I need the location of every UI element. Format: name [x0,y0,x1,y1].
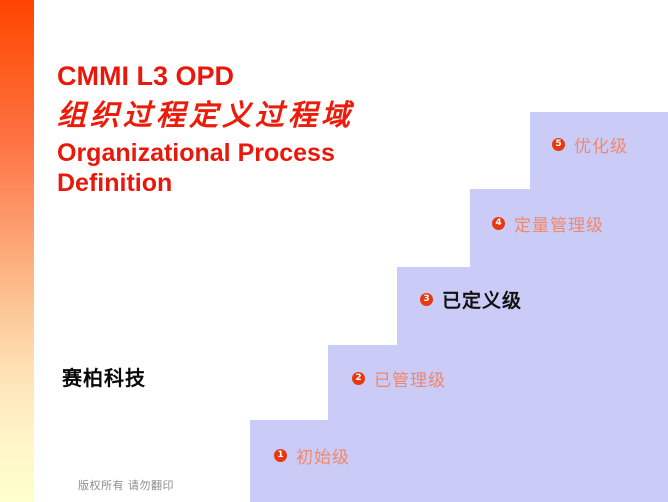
presentation-slide: 5 优化级 4 定量管理级 3 已定义级 2 已管理级 1 初始级 CMMI L… [0,0,668,502]
company-name: 赛柏科技 [62,362,146,391]
maturity-level-5-label: 5 优化级 [552,132,628,157]
level-1-number-badge: 1 [274,449,287,462]
copyright-note: 版权所有 请勿翻印 [78,477,174,493]
level-1-text: 初始级 [296,443,350,468]
level-4-text: 定量管理级 [514,211,604,236]
title-line-english-top: CMMI L3 OPD [57,62,457,92]
staircase-step-5 [530,112,668,502]
level-3-number-badge: 3 [420,293,433,306]
title-line-english-bottom: Organizational Process Definition [57,138,457,198]
level-2-text: 已管理级 [374,366,446,391]
level-3-text: 已定义级 [442,286,522,313]
level-4-number-badge: 4 [492,217,505,230]
title-line-chinese: 组织过程定义过程域 [57,96,457,135]
slide-title-block: CMMI L3 OPD 组织过程定义过程域 Organizational Pro… [57,62,457,198]
maturity-level-3-label: 3 已定义级 [420,286,522,313]
maturity-level-1-label: 1 初始级 [274,443,350,468]
level-2-number-badge: 2 [352,372,365,385]
level-5-text: 优化级 [574,132,628,157]
maturity-level-4-label: 4 定量管理级 [492,211,604,236]
level-5-number-badge: 5 [552,138,565,151]
maturity-level-2-label: 2 已管理级 [352,366,446,391]
